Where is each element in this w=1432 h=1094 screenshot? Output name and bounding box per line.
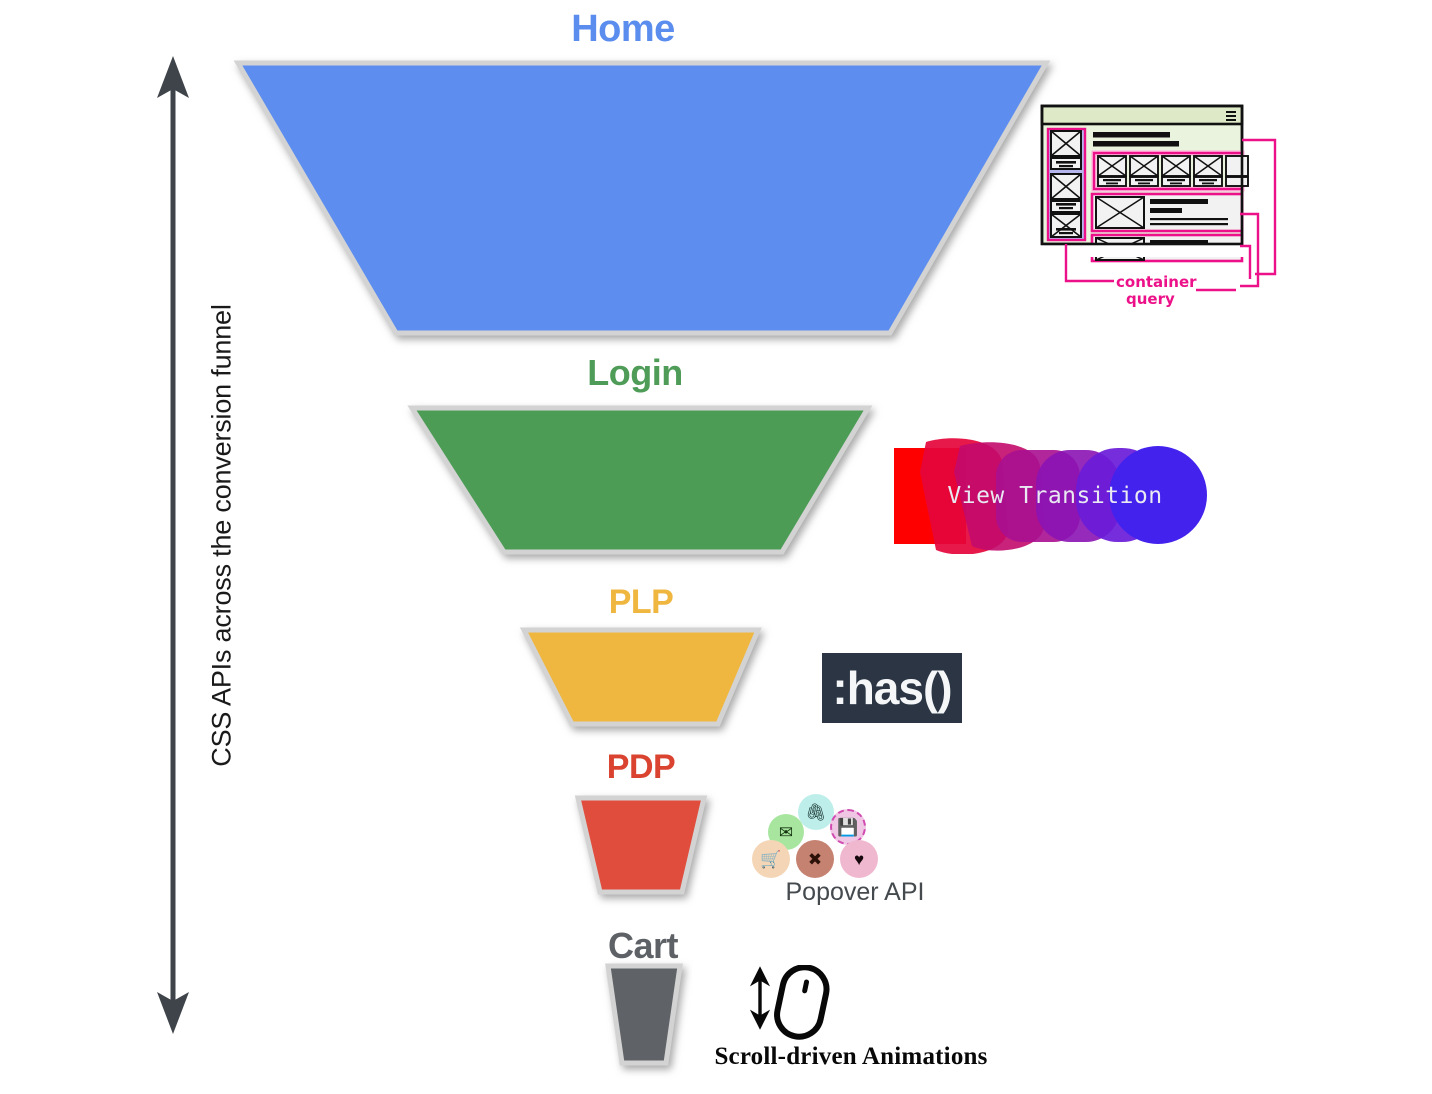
- double-headed-vertical-arrow-icon: [148, 50, 198, 1040]
- scroll-driven-animations-illustration: Scroll-driven Animations: [706, 965, 996, 1085]
- stage-label-pdp: PDP: [391, 748, 891, 787]
- conversion-funnel-axis: CSS APIs across the conversion funnel: [148, 50, 198, 1040]
- heart-glyph: ♥: [854, 851, 864, 868]
- funnel-segment-plp[interactable]: [512, 620, 782, 738]
- container-query-label-line1: container: [1116, 273, 1197, 291]
- funnel-diagram-canvas: CSS APIs across the conversion funnel Ho…: [0, 0, 1432, 1094]
- container-query-illustration: container query: [1040, 96, 1308, 336]
- shopping-cart-glyph: 🛒: [760, 851, 781, 868]
- popover-api-illustration: ✉ 🖇 💾 🛒 ✖ ♥ Popover API: [740, 792, 970, 912]
- has-selector-label: :has(): [832, 661, 951, 715]
- funnel-segment-login[interactable]: [400, 400, 890, 572]
- stage-label-home: Home: [373, 8, 873, 51]
- stage-label-plp: PLP: [391, 583, 891, 622]
- paperclip-glyph: 🖇: [805, 804, 827, 821]
- close-x-icon[interactable]: ✖: [796, 840, 834, 878]
- morph-shapes-sequence: [890, 438, 1220, 554]
- shopping-cart-icon[interactable]: 🛒: [752, 840, 790, 878]
- computer-mouse-with-scroll-arrow-icon: [706, 965, 996, 1045]
- stage-label-login: Login: [390, 352, 880, 394]
- scroll-driven-animations-label: Scroll-driven Animations: [706, 1043, 996, 1071]
- container-query-label-line2: query: [1126, 290, 1175, 308]
- popover-api-label: Popover API: [740, 878, 970, 907]
- heart-icon[interactable]: ♥: [840, 840, 878, 878]
- paperclip-icon[interactable]: 🖇: [798, 794, 834, 830]
- funnel-segment-pdp[interactable]: [558, 788, 728, 913]
- envelope-glyph: ✉: [779, 824, 793, 841]
- close-x-glyph: ✖: [808, 851, 822, 868]
- funnel-segment-cart[interactable]: [590, 955, 700, 1081]
- view-transition-illustration: View Transition: [890, 438, 1220, 554]
- has-selector-badge: :has(): [822, 653, 962, 723]
- funnel-segment-home[interactable]: [230, 55, 1060, 347]
- floppy-save-glyph: 💾: [837, 819, 858, 836]
- browser-wireframe-illustration: container query: [1040, 96, 1308, 336]
